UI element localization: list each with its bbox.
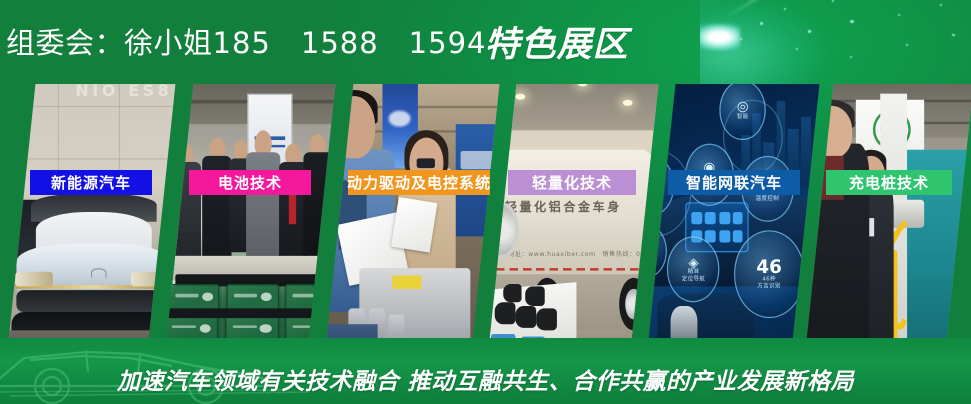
panel-intelligent-connected-vehicle[interactable]: 46 46种 方言识别 0°C 空调 温度控制 ◉ 语音 智能控制: [649, 84, 820, 340]
label-intelligent-connected-vehicle[interactable]: 智能网联汽车: [668, 170, 800, 195]
van-body-text: 轻量化铝合金车身: [505, 196, 622, 214]
panel-strip: NIO ES8: [0, 84, 971, 340]
label-charging-pile-technology[interactable]: 充电桩技术: [826, 170, 952, 195]
label-text-drive-control-system: 动力驱动及电控系统: [347, 172, 491, 193]
panel-battery-technology[interactable]: [167, 84, 336, 340]
label-battery-technology[interactable]: 电池技术: [189, 170, 311, 195]
panel-photo-lightweight-technology: 轻量化铝合金车身 网址：www.huaxiber.com 销售热线：0373-6…: [490, 84, 659, 340]
panel-photo-battery-technology: [167, 84, 336, 340]
panel-drive-control-system[interactable]: [327, 84, 500, 340]
panel-photo-charging-pile-technology: [807, 84, 971, 340]
label-text-new-energy-vehicle: 新能源汽车: [51, 172, 131, 193]
footer-caption-text: 加速汽车领域有关技术融合 推动互融共生、合作共赢的产业发展新格局: [117, 362, 854, 396]
label-new-energy-vehicle[interactable]: 新能源汽车: [30, 170, 152, 195]
organizer-phone: 185 1588 1594: [213, 26, 487, 60]
panel-photo-drive-control-system: [327, 84, 500, 340]
footer-band: 加速汽车领域有关技术融合 推动互融共生、合作共赢的产业发展新格局: [0, 338, 971, 404]
panel-lightweight-technology[interactable]: 轻量化铝合金车身 网址：www.huaxiber.com 销售热线：0373-6…: [490, 84, 659, 340]
label-drive-control-system[interactable]: 动力驱动及电控系统: [348, 170, 490, 195]
panel-charging-pile-technology[interactable]: [807, 84, 971, 340]
hud-bubble-dialect: 46 46种 方言识别: [734, 231, 804, 318]
panel-new-energy-vehicle[interactable]: NIO ES8: [9, 84, 176, 340]
footer-caption: 加速汽车领域有关技术融合 推动互融共生、合作共赢的产业发展新格局: [0, 338, 971, 404]
label-text-battery-technology: 电池技术: [218, 172, 282, 193]
banner-header: 组委会：徐小姐185 1588 1594 特色展区: [0, 18, 971, 64]
panel-photo-intelligent-connected-vehicle: 46 46种 方言识别 0°C 空调 温度控制 ◉ 语音 智能控制: [649, 84, 820, 340]
label-text-lightweight-technology: 轻量化技术: [532, 172, 612, 193]
label-lightweight-technology[interactable]: 轻量化技术: [508, 170, 636, 195]
label-text-charging-pile-technology: 充电桩技术: [849, 172, 929, 193]
page-title: 特色展区: [484, 16, 628, 67]
organizer-label: 组委会：徐小姐: [6, 26, 213, 60]
panel-photo-new-energy-vehicle: NIO ES8: [9, 84, 176, 340]
hud-bubble-navigation: ◈ 精准 定位导航: [667, 237, 720, 303]
label-text-intelligent-connected-vehicle: 智能网联汽车: [686, 172, 782, 193]
organizer-contact: 组委会：徐小姐185 1588 1594: [0, 20, 486, 62]
exhibition-banner: 组委会：徐小姐185 1588 1594 特色展区 NIO ES8: [0, 0, 971, 404]
nio-wall-sign: NIO ES8: [75, 84, 172, 101]
hud-bubble-top: ◎ 智能: [720, 84, 766, 140]
